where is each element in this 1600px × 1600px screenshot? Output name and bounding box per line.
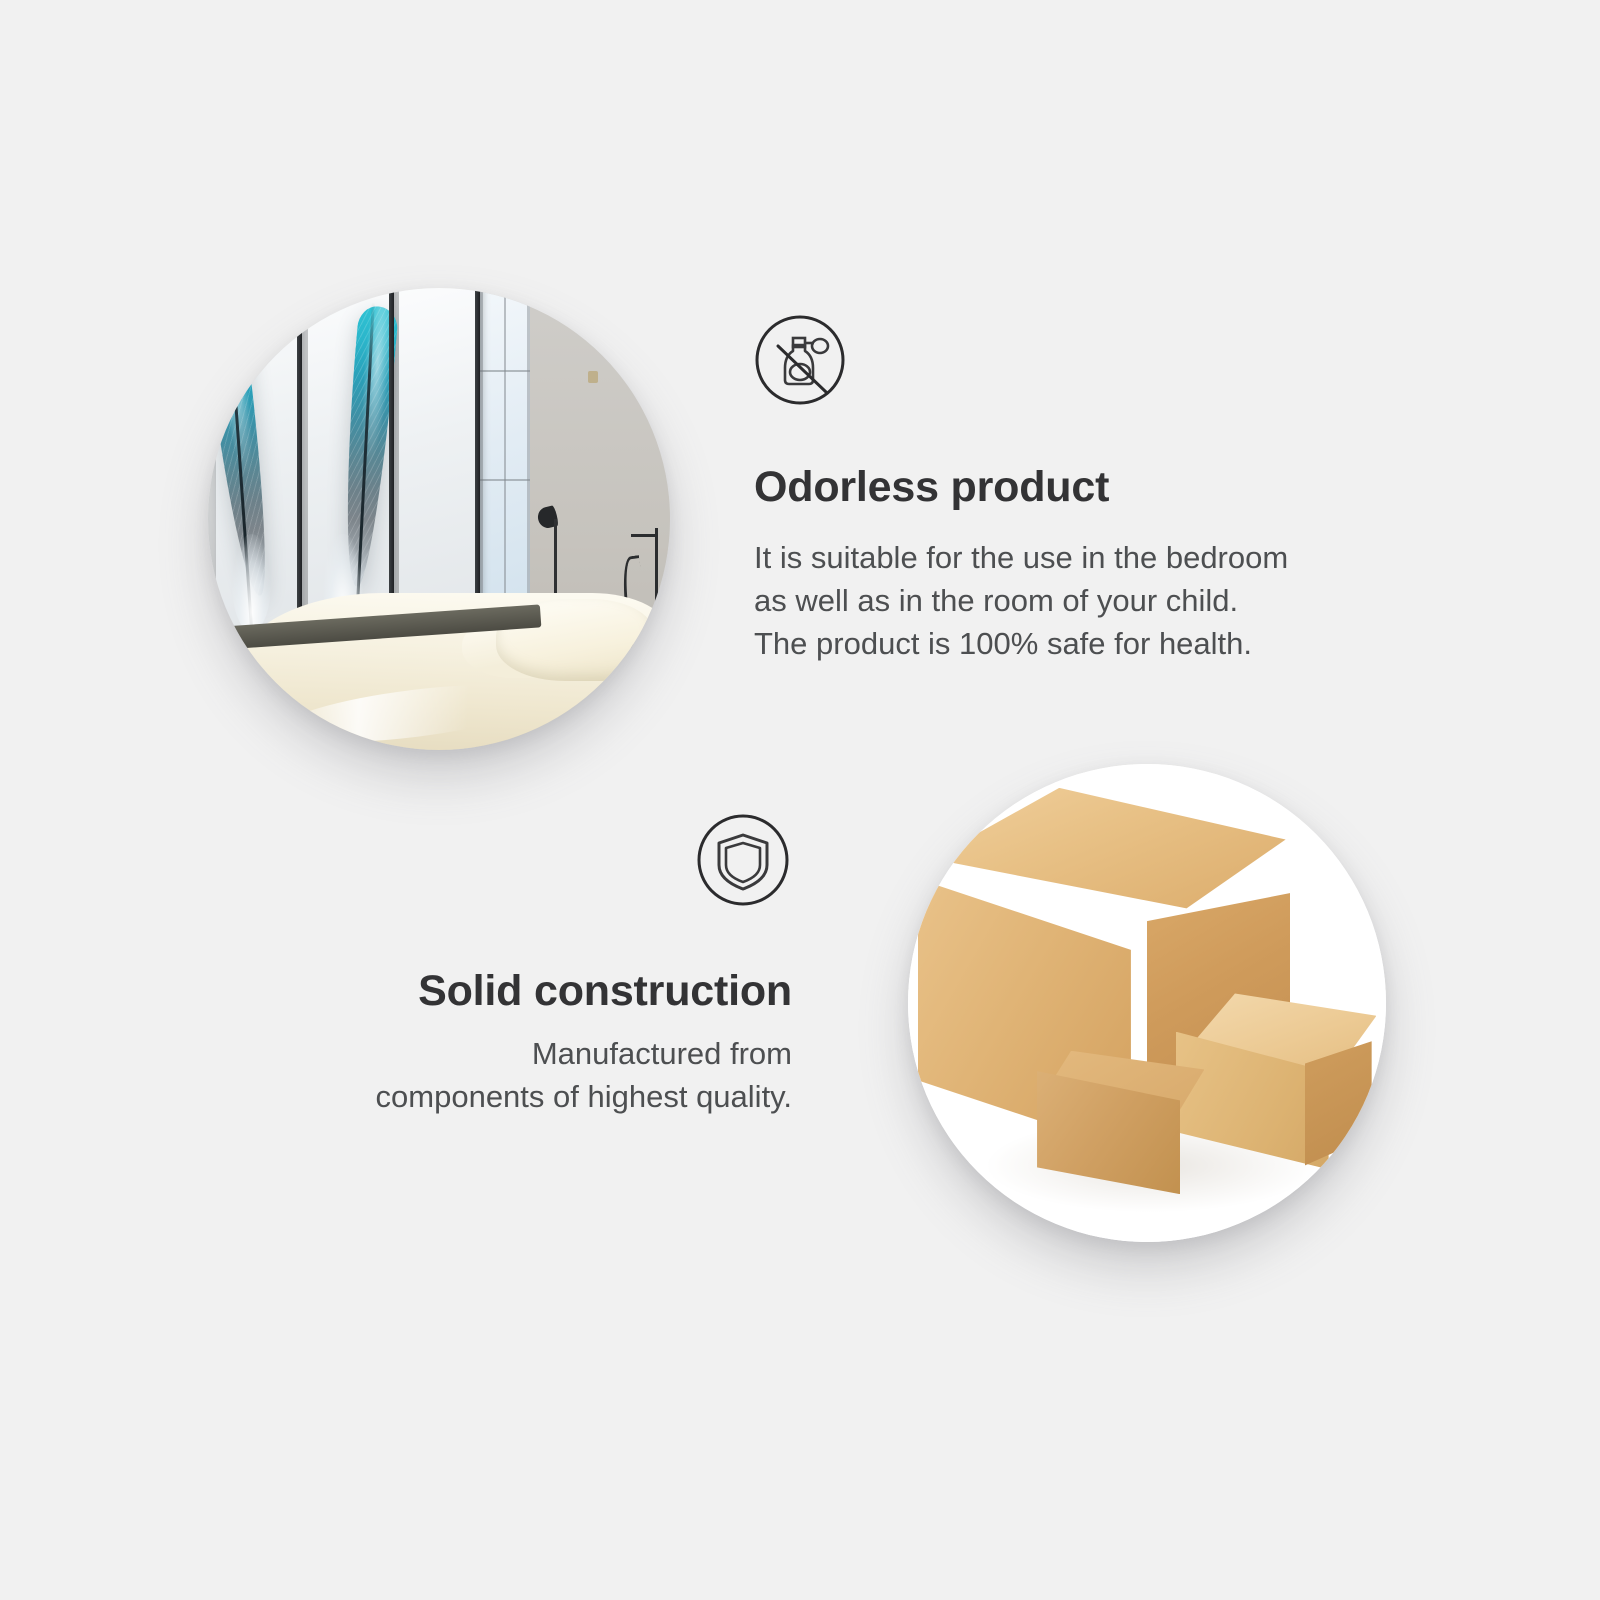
body-line: as well as in the room of your child. (754, 579, 1434, 622)
body-line: components of highest quality. (180, 1075, 792, 1118)
shield-icon (695, 812, 792, 913)
feature-block-odorless: Odorless product It is suitable for the … (754, 314, 1434, 665)
feature-title-odorless: Odorless product (754, 465, 1434, 510)
canvas-panel-edge-2 (389, 288, 394, 639)
infographic-canvas: Odorless product It is suitable for the … (0, 0, 1600, 1600)
shield-icon-holder (180, 812, 792, 913)
second-lamp-arm (631, 534, 658, 537)
canvas-panel-edge-1 (297, 288, 302, 639)
feature-title-solid-construction: Solid construction (180, 969, 792, 1014)
feather-down-1 (232, 534, 272, 632)
body-line: Manufactured from (180, 1032, 792, 1075)
canvas-panel-3 (399, 288, 479, 639)
feature-body-odorless: It is suitable for the use in the bedroo… (754, 536, 1434, 665)
no-perfume-icon (754, 314, 1434, 411)
feature-body-solid-construction: Manufactured from components of highest … (180, 1032, 792, 1118)
feather-triptych-canvas (208, 288, 485, 639)
feature-block-solid-construction: Solid construction Manufactured from com… (180, 812, 792, 1118)
canvas-panel-edge-3 (475, 288, 480, 639)
canvas-panel-2 (308, 288, 394, 639)
bed-sheet-fold (277, 674, 550, 750)
body-line: It is suitable for the use in the bedroo… (754, 536, 1434, 579)
canvas-panel-1 (216, 288, 302, 639)
body-line: The product is 100% safe for health. (754, 622, 1434, 665)
feature-image-bedroom-feather-canvas (208, 288, 670, 750)
wall-mark (588, 371, 598, 383)
feature-image-wooden-blocks (908, 764, 1386, 1242)
